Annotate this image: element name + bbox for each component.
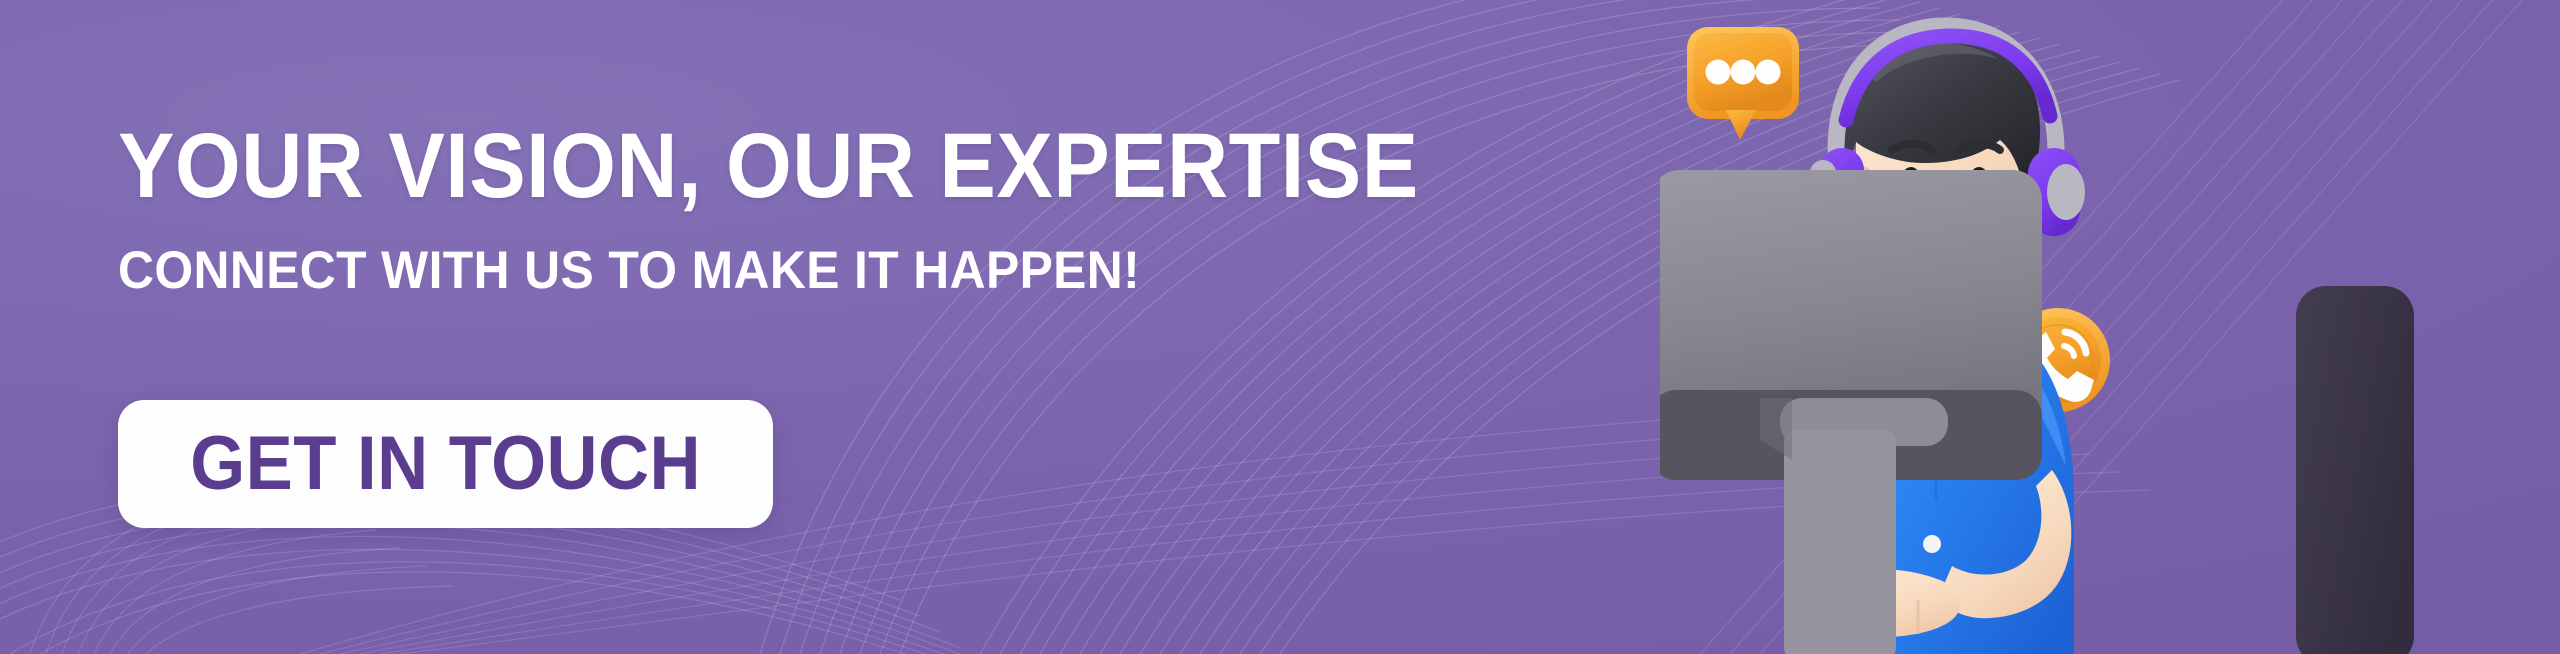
office-chair xyxy=(2296,286,2414,654)
page-subtitle: CONNECT WITH US TO MAKE IT HAPPEN! xyxy=(118,244,1434,298)
page-title: YOUR VISION, OUR EXPERTISE xyxy=(118,122,1406,210)
get-in-touch-button[interactable]: GET IN TOUCH xyxy=(118,400,773,528)
cta-label: GET IN TOUCH xyxy=(190,400,701,528)
support-agent-illustration: ? xyxy=(1660,0,2560,654)
chat-bubble-icon xyxy=(1687,27,1799,140)
promo-banner: YOUR VISION, OUR EXPERTISE CONNECT WITH … xyxy=(0,0,2560,654)
banner-copy: YOUR VISION, OUR EXPERTISE CONNECT WITH … xyxy=(118,122,1518,298)
